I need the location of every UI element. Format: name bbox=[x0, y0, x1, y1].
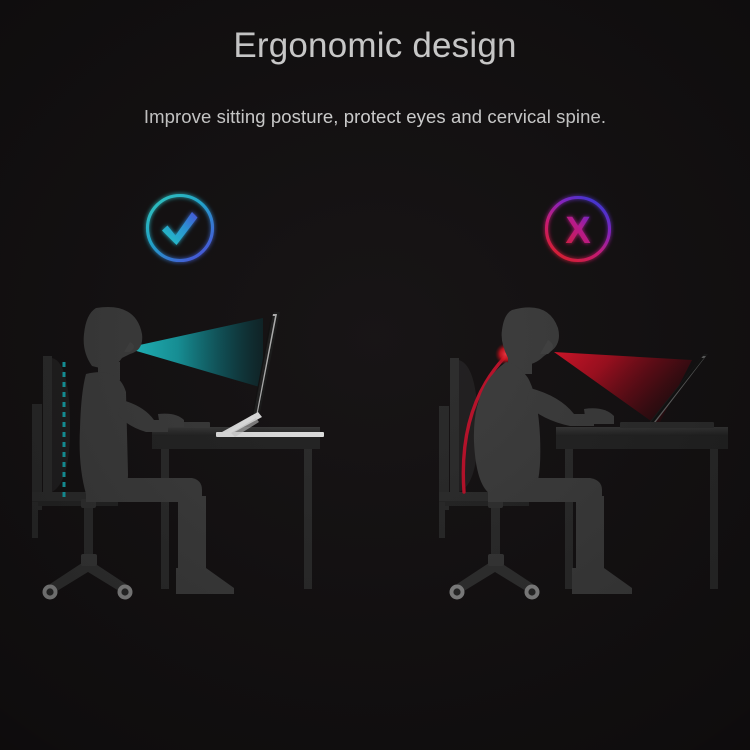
check-badge-ring bbox=[148, 196, 213, 261]
check-mark-icon bbox=[162, 212, 198, 245]
desk-leg-front bbox=[161, 449, 169, 589]
desk-leg-back bbox=[304, 449, 312, 589]
hand-bad bbox=[584, 408, 614, 424]
caster-hub-left-bad bbox=[453, 588, 460, 595]
shin-bad bbox=[576, 496, 604, 576]
chair-back-frame bbox=[43, 356, 52, 492]
page-subtitle: Improve sitting posture, protect eyes an… bbox=[0, 106, 750, 128]
desk-top-bad bbox=[556, 427, 728, 436]
caster-hub-right bbox=[121, 588, 128, 595]
desk-leg-front-bad bbox=[565, 449, 573, 589]
hand-good bbox=[158, 414, 184, 427]
chair-post bbox=[84, 501, 93, 559]
chair-base-hub bbox=[81, 554, 97, 566]
gaze-cone-good bbox=[126, 318, 263, 388]
desk-apron-bad bbox=[556, 436, 728, 449]
check-mark-badge bbox=[142, 190, 218, 266]
laptop-keyboard-deck-bad bbox=[620, 422, 714, 428]
chair-back-frame-bad bbox=[450, 358, 459, 492]
chair-side-rail-bad bbox=[439, 502, 445, 538]
page-title: Ergonomic design bbox=[0, 26, 750, 66]
caster-hub-right-bad bbox=[528, 588, 535, 595]
chair-side-rail bbox=[32, 502, 38, 538]
desk-leg-back-bad bbox=[710, 449, 718, 589]
foot-bad bbox=[572, 568, 632, 594]
ergonomic-design-infographic: Ergonomic design Improve sitting posture… bbox=[0, 0, 750, 750]
good-posture-illustration bbox=[26, 296, 356, 626]
cross-x-icon: X bbox=[565, 210, 591, 252]
torso-hunched-bad bbox=[474, 362, 540, 494]
chair-post-bad bbox=[491, 501, 500, 559]
cross-x-badge: X bbox=[540, 191, 616, 267]
hip-good bbox=[86, 482, 134, 502]
head-good bbox=[84, 307, 143, 368]
chair-back-cushion bbox=[52, 358, 70, 492]
hip-bad bbox=[490, 482, 538, 502]
bad-posture-illustration bbox=[408, 296, 738, 626]
desk-apron bbox=[152, 436, 320, 449]
foot-good bbox=[176, 568, 234, 594]
shin-good bbox=[178, 496, 206, 576]
desk-good bbox=[152, 427, 320, 589]
chair-base-hub-bad bbox=[488, 554, 504, 566]
caster-hub-left bbox=[46, 588, 53, 595]
torso-good bbox=[80, 372, 128, 494]
